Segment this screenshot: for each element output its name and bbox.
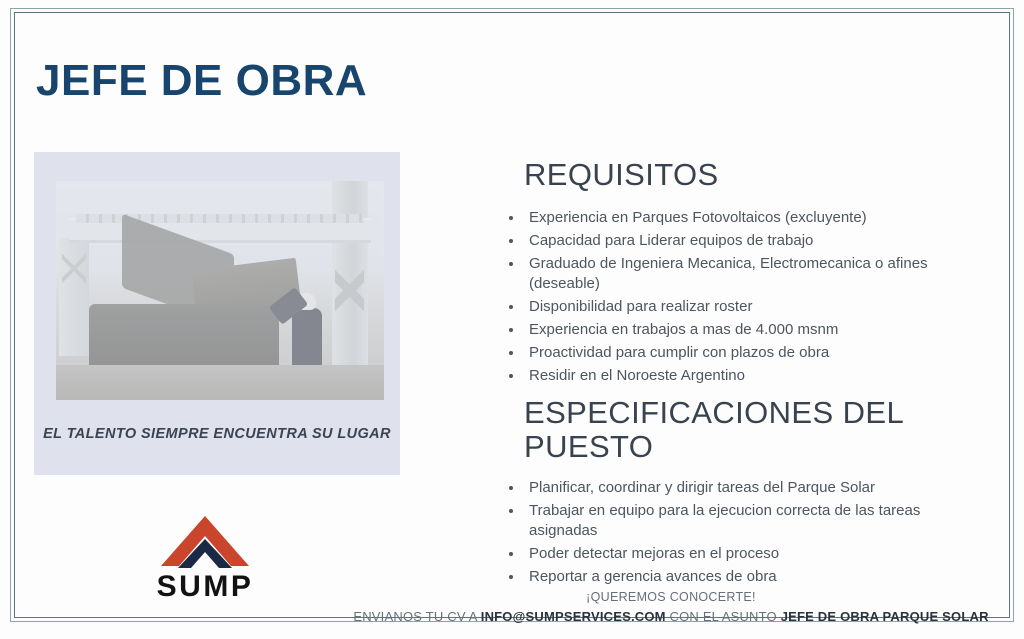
list-item: Reportar a gerencia avances de obra — [506, 567, 976, 587]
list-item: Disponibilidad para realizar roster — [506, 297, 976, 317]
list-item: Experiencia en Parques Fotovoltaicos (ex… — [506, 208, 976, 228]
media-panel: EL TALENTO SIEMPRE ENCUENTRA SU LUGAR — [34, 152, 400, 475]
requisitos-list: Experiencia en Parques Fotovoltaicos (ex… — [506, 208, 976, 386]
section-heading-especificaciones: ESPECIFICACIONES DEL PUESTO — [524, 396, 976, 464]
media-caption: EL TALENTO SIEMPRE ENCUENTRA SU LUGAR — [34, 426, 400, 442]
list-item: Proactividad para cumplir con plazos de … — [506, 343, 976, 363]
photo-fade-overlay — [56, 181, 384, 400]
job-posting-poster: JEFE DE OBRA EL TALENTO SIEMPRE ENCUENTR… — [0, 0, 1024, 639]
list-item: Experiencia en trabajos a mas de 4.000 m… — [506, 320, 976, 340]
list-item: Planificar, coordinar y dirigir tareas d… — [506, 478, 976, 498]
footer-call-to-action: ¡QUEREMOS CONOCERTE! — [340, 589, 1002, 606]
list-item: Residir en el Noroeste Argentino — [506, 366, 976, 386]
list-item: Poder detectar mejoras en el proceso — [506, 544, 976, 564]
especificaciones-list: Planificar, coordinar y dirigir tareas d… — [506, 478, 976, 587]
sump-chevron-icon — [157, 512, 253, 570]
contact-email[interactable]: INFO@SUMPSERVICES.COM — [481, 609, 666, 624]
section-heading-requisitos: REQUISITOS — [524, 158, 976, 192]
footer-text-before-subject: CON EL ASUNTO — [666, 609, 781, 624]
email-subject: JEFE DE OBRA PARQUE SOLAR — [781, 609, 989, 624]
company-logo: SUMP — [155, 512, 255, 602]
requirements-content: REQUISITOS Experiencia en Parques Fotovo… — [506, 158, 976, 590]
list-item: Graduado de Ingeniera Mecanica, Electrom… — [506, 254, 976, 294]
list-item: Capacidad para Liderar equipos de trabaj… — [506, 231, 976, 251]
page-title: JEFE DE OBRA — [36, 58, 367, 104]
logo-wordmark: SUMP — [155, 572, 255, 602]
footer-contact-line: ENVIANOS TU CV A INFO@SUMPSERVICES.COM C… — [340, 608, 1002, 626]
site-photo — [56, 181, 384, 400]
footer-text-before-email: ENVIANOS TU CV A — [353, 609, 480, 624]
list-item: Trabajar en equipo para la ejecucion cor… — [506, 501, 976, 541]
footer: ¡QUEREMOS CONOCERTE! ENVIANOS TU CV A IN… — [340, 589, 1002, 626]
